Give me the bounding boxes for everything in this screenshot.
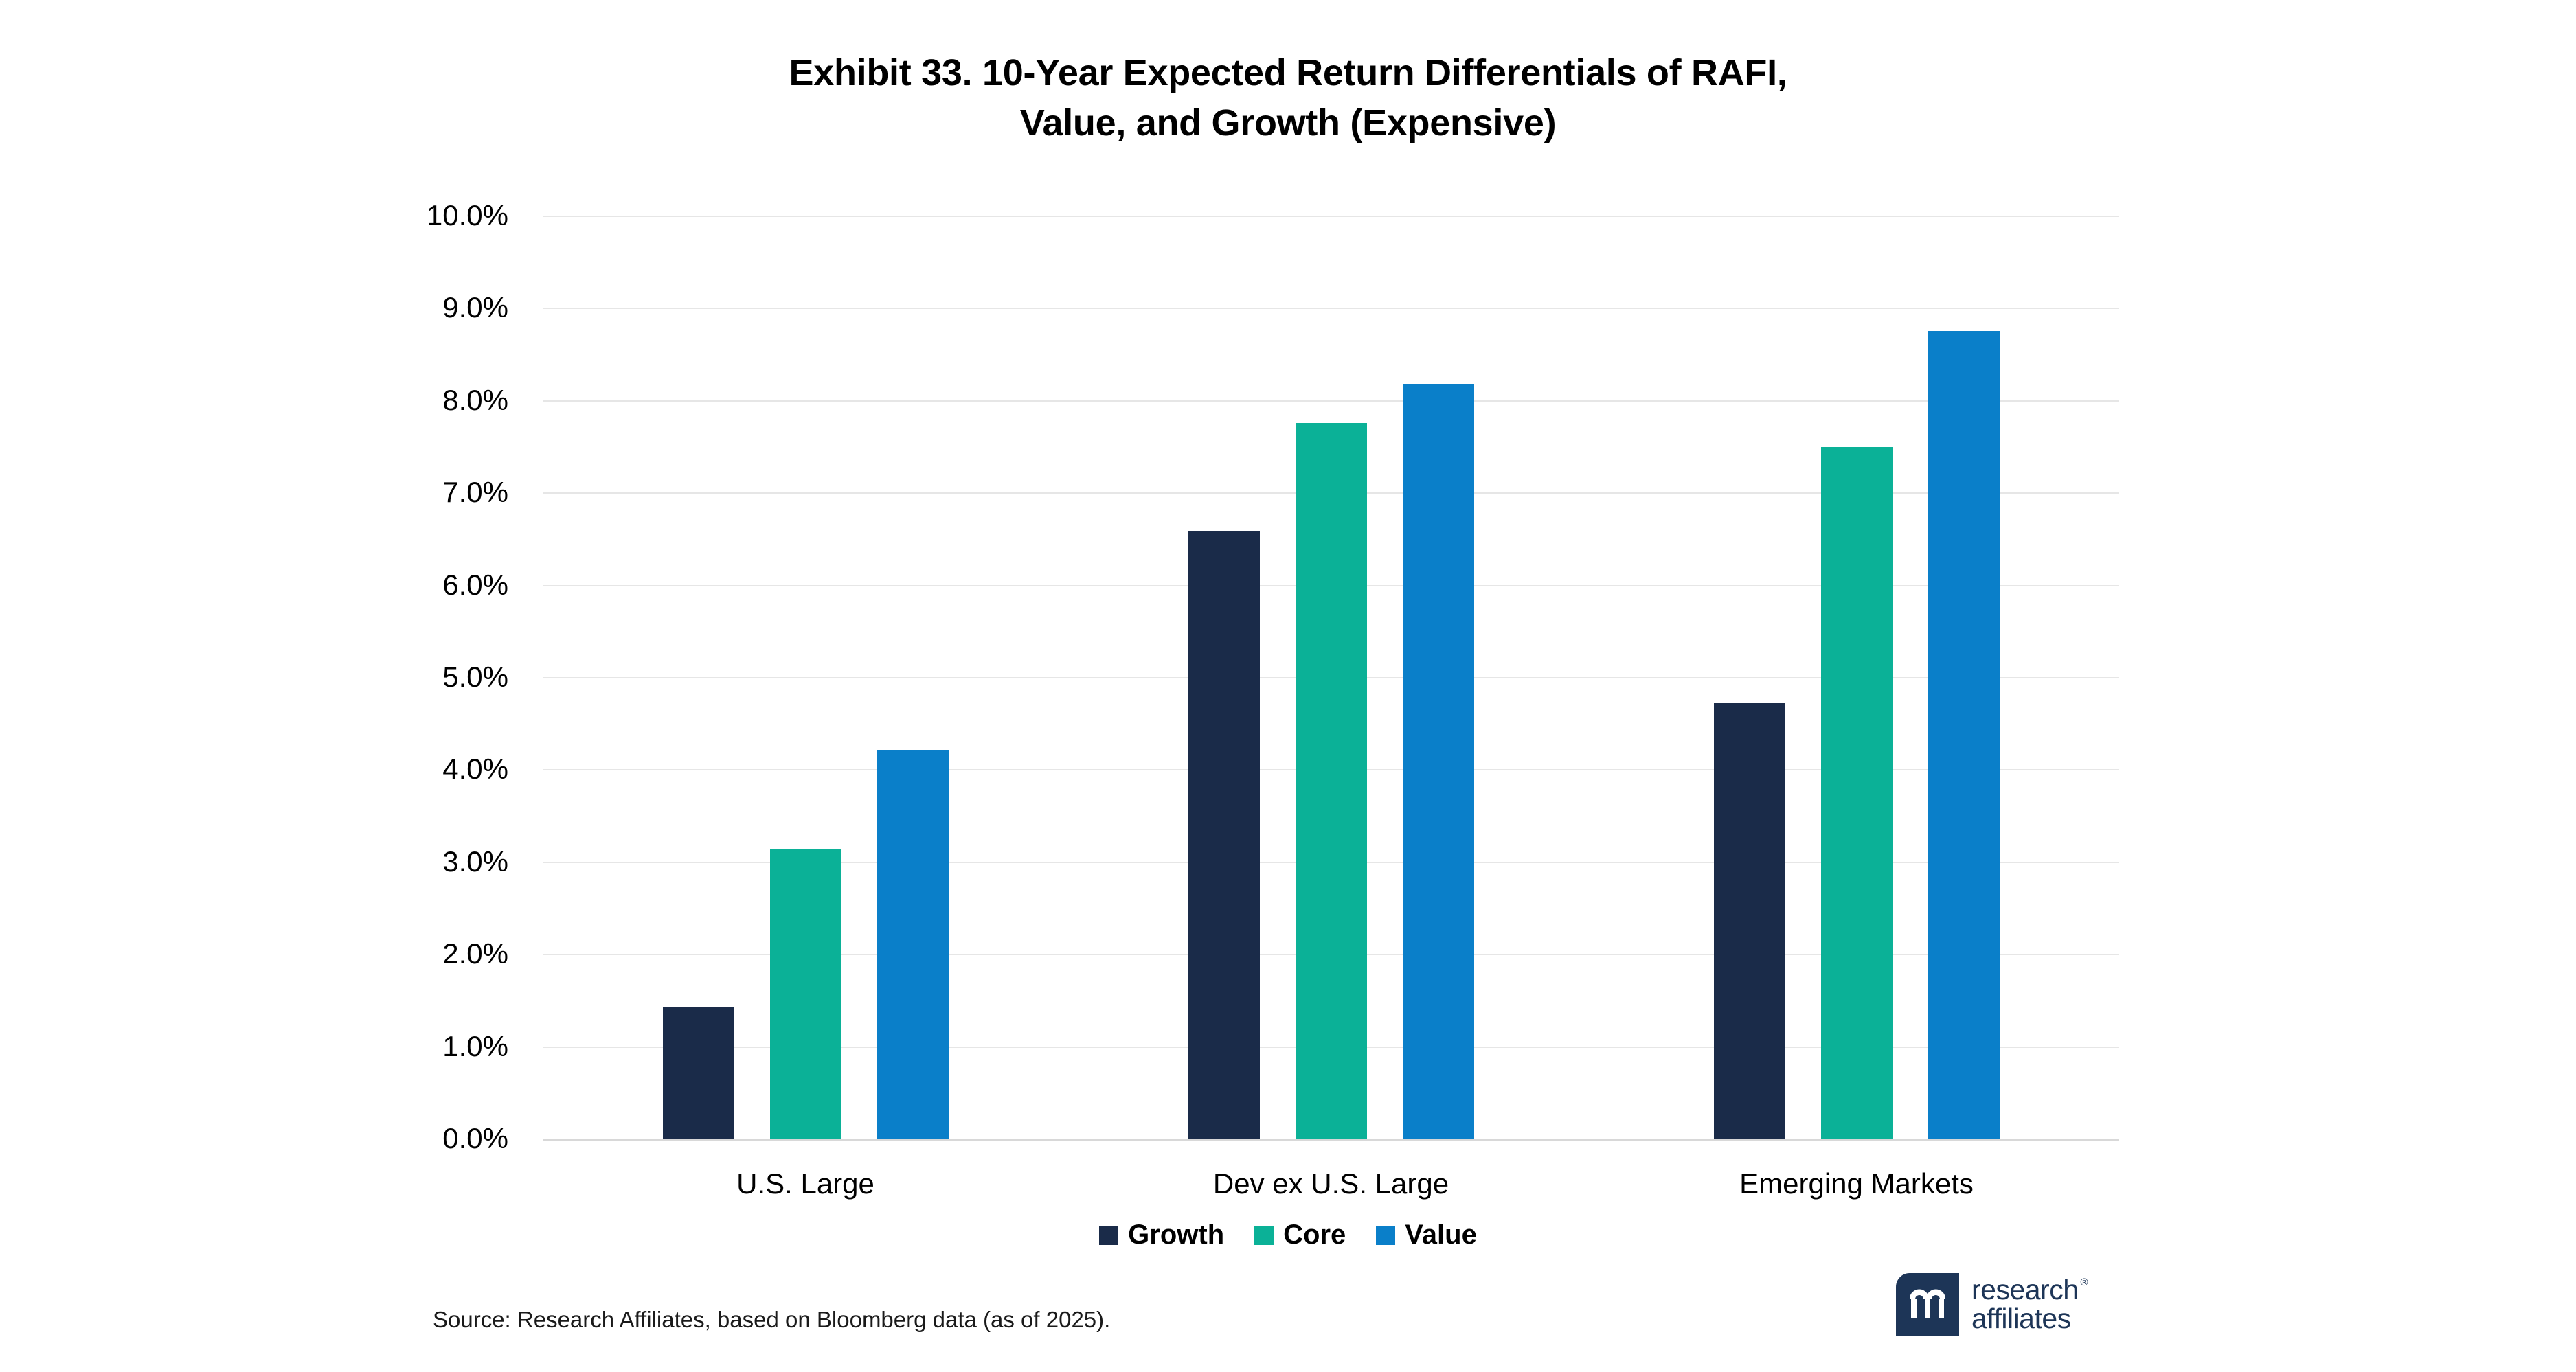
y-axis-tick-label: 1.0% [371,1030,508,1063]
bar[interactable] [1188,531,1260,1139]
y-axis-tick-label: 5.0% [371,661,508,694]
title-line-1: Exhibit 33. 10-Year Expected Return Diff… [0,48,2576,98]
bar[interactable] [1821,447,1893,1139]
y-axis-tick-label: 10.0% [371,199,508,232]
research-affiliates-mark-icon [1896,1273,1959,1336]
y-axis-tick-label: 6.0% [371,569,508,602]
legend-label: Growth [1128,1220,1224,1250]
legend-item[interactable]: Growth [1099,1220,1224,1250]
x-axis-category-label: Emerging Markets [1739,1167,1974,1200]
legend-label: Core [1283,1220,1346,1250]
page-title: Exhibit 33. 10-Year Expected Return Diff… [0,48,2576,148]
logo-line-2: affiliates [1971,1305,2079,1334]
logo-wordmark: research affiliates ® [1971,1276,2079,1334]
y-axis-tick-label: 7.0% [371,476,508,509]
bar[interactable] [1714,703,1785,1139]
gridline [543,1139,2119,1141]
logo-trademark: ® [2080,1277,2088,1288]
bar-group [663,216,949,1139]
legend-item[interactable]: Core [1254,1220,1346,1250]
y-axis-tick-label: 2.0% [371,937,508,970]
source-note: Source: Research Affiliates, based on Bl… [433,1307,1110,1333]
bar[interactable] [877,750,949,1139]
logo-line-1: research [1971,1276,2079,1305]
y-axis-tick-label: 8.0% [371,384,508,417]
y-axis-tick-label: 9.0% [371,291,508,324]
y-axis-tick-label: 3.0% [371,845,508,878]
legend-label: Value [1405,1220,1477,1250]
y-axis-tick-label: 4.0% [371,753,508,786]
bar-group [1714,216,2000,1139]
bar[interactable] [1403,384,1474,1139]
x-axis-category-label: U.S. Large [736,1167,874,1200]
bar[interactable] [1296,423,1367,1139]
legend-swatch-icon [1254,1226,1274,1245]
legend-swatch-icon [1376,1226,1395,1245]
legend: GrowthCoreValue [0,1220,2576,1250]
title-line-2: Value, and Growth (Expensive) [0,98,2576,148]
bars-layer [543,216,2119,1139]
research-affiliates-logo: research affiliates ® [1896,1267,2116,1342]
y-axis-tick-label: 0.0% [371,1122,508,1155]
x-axis-category-label: Dev ex U.S. Large [1213,1167,1449,1200]
legend-swatch-icon [1099,1226,1118,1245]
bar[interactable] [770,849,841,1139]
legend-item[interactable]: Value [1376,1220,1477,1250]
bar[interactable] [1928,331,2000,1139]
bar[interactable] [663,1007,734,1139]
bar-group [1188,216,1474,1139]
